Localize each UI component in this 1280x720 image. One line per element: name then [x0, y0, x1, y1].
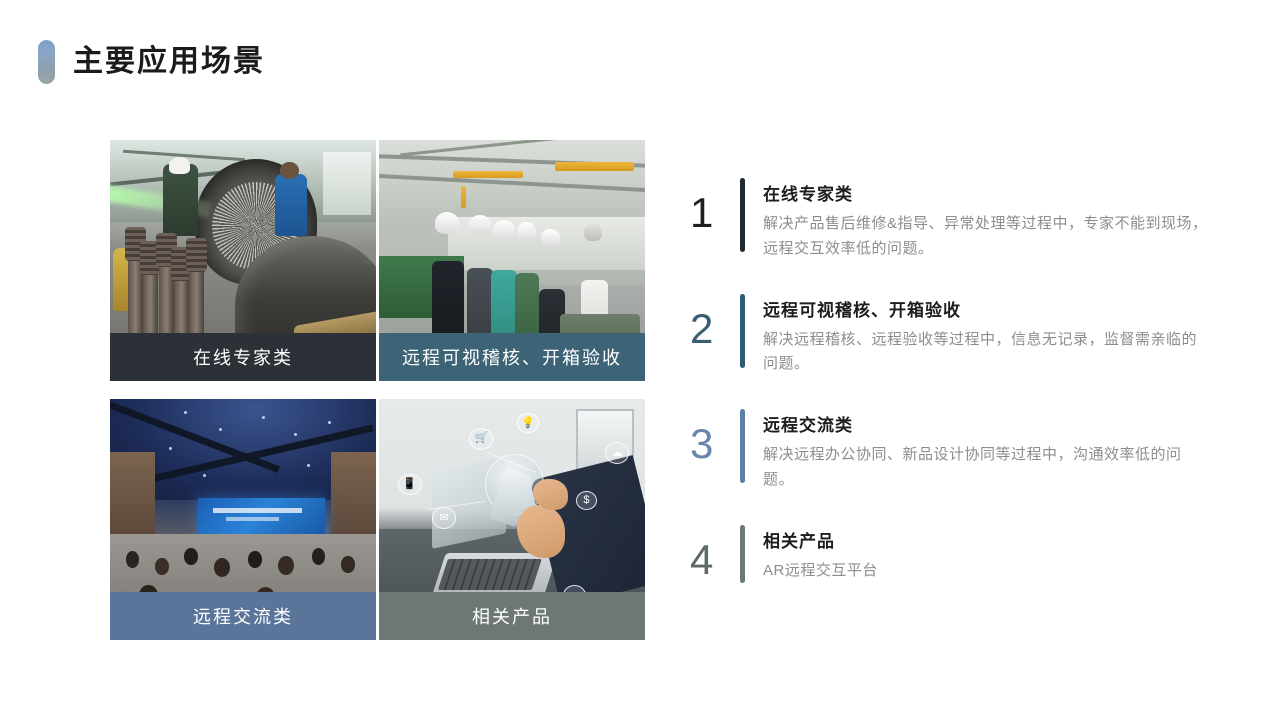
- photo-caption: 在线专家类: [110, 333, 376, 381]
- feature-description: 解决远程稽核、远程验收等过程中，信息无记录，监督需亲临的问题。: [763, 328, 1210, 378]
- photo-caption: 远程可视稽核、开箱验收: [379, 333, 645, 381]
- feature-number: 2: [690, 294, 740, 350]
- page-title: 主要应用场景: [73, 47, 265, 77]
- dollar-icon: $: [576, 491, 597, 510]
- cart-icon: 🛒: [469, 428, 493, 450]
- feature-item-expert[interactable]: 1 在线专家类 解决产品售后维修&指导、异常处理等过程中，专家不能到现场，远程交…: [690, 178, 1210, 262]
- feature-list: 1 在线专家类 解决产品售后维修&指导、异常处理等过程中，专家不能到现场，远程交…: [690, 178, 1210, 583]
- feature-accent-bar: [740, 178, 745, 252]
- bulb-icon: 💡: [517, 413, 538, 432]
- photo-card-product[interactable]: 🛒 ✉ ☁ $ 📱 💡 ☐ ● 相关产品: [379, 399, 645, 640]
- feature-accent-bar: [740, 409, 745, 483]
- slide-header: 主要应用场景: [38, 40, 265, 84]
- feature-title: 在线专家类: [763, 180, 1210, 205]
- feature-accent-bar: [740, 525, 745, 583]
- feature-title: 相关产品: [763, 527, 1210, 552]
- feature-title: 远程交流类: [763, 411, 1210, 436]
- photo-grid: 在线专家类: [110, 140, 645, 640]
- photo-caption: 相关产品: [379, 592, 645, 640]
- pill-marker-icon: [38, 40, 55, 84]
- feature-item-product[interactable]: 4 相关产品 AR远程交互平台: [690, 525, 1210, 584]
- feature-accent-bar: [740, 294, 745, 368]
- feature-number: 1: [690, 178, 740, 234]
- phone-icon: 📱: [398, 474, 422, 496]
- photo-card-expert[interactable]: 在线专家类: [110, 140, 376, 381]
- photo-card-audit[interactable]: 远程可视稽核、开箱验收: [379, 140, 645, 381]
- feature-number: 3: [690, 409, 740, 465]
- photo-card-conference[interactable]: 远程交流类: [110, 399, 376, 640]
- feature-title: 远程可视稽核、开箱验收: [763, 296, 1210, 321]
- feature-number: 4: [690, 525, 740, 581]
- feature-description: 解决远程办公协同、新品设计协同等过程中，沟通效率低的问题。: [763, 443, 1210, 493]
- feature-item-audit[interactable]: 2 远程可视稽核、开箱验收 解决远程稽核、远程验收等过程中，信息无记录，监督需亲…: [690, 294, 1210, 378]
- feature-item-communication[interactable]: 3 远程交流类 解决远程办公协同、新品设计协同等过程中，沟通效率低的问题。: [690, 409, 1210, 493]
- photo-caption: 远程交流类: [110, 592, 376, 640]
- cloud-icon: ☁: [605, 442, 629, 464]
- feature-description: AR远程交互平台: [763, 559, 1210, 584]
- feature-description: 解决产品售后维修&指导、异常处理等过程中，专家不能到现场，远程交互效率低的问题。: [763, 212, 1210, 262]
